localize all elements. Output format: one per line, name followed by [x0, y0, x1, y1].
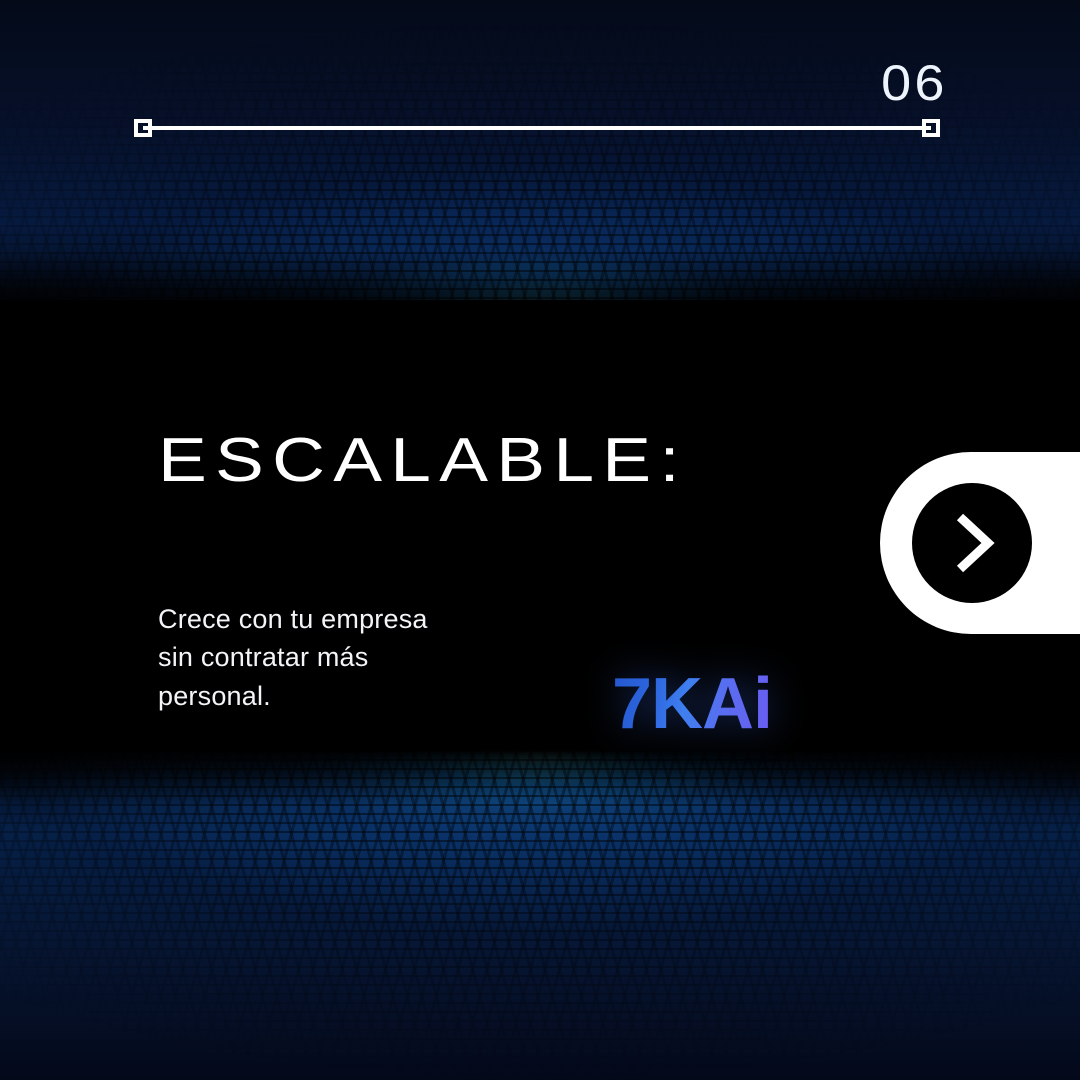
slide-canvas: 06 ESCALABLE: Crece con tu empresa sin c…: [0, 0, 1080, 1080]
slide-number: 06: [881, 58, 948, 108]
divider-top: [134, 119, 940, 137]
body-line: personal.: [158, 677, 578, 715]
background-grid-floor: [0, 750, 1080, 1080]
divider-cap-right-icon: [922, 119, 940, 137]
chevron-right-icon[interactable]: [912, 483, 1032, 603]
brand-logo: 7KAi: [612, 668, 772, 740]
horizon-fade-bottom: [0, 750, 1080, 805]
body-line: Crece con tu empresa: [158, 600, 578, 638]
divider-rule: [143, 126, 931, 130]
body-copy: Crece con tu empresa sin contratar más p…: [158, 600, 578, 715]
body-line: sin contratar más: [158, 638, 578, 676]
page-title: ESCALABLE:: [158, 428, 688, 493]
background-grid-ceiling: [0, 0, 1080, 320]
